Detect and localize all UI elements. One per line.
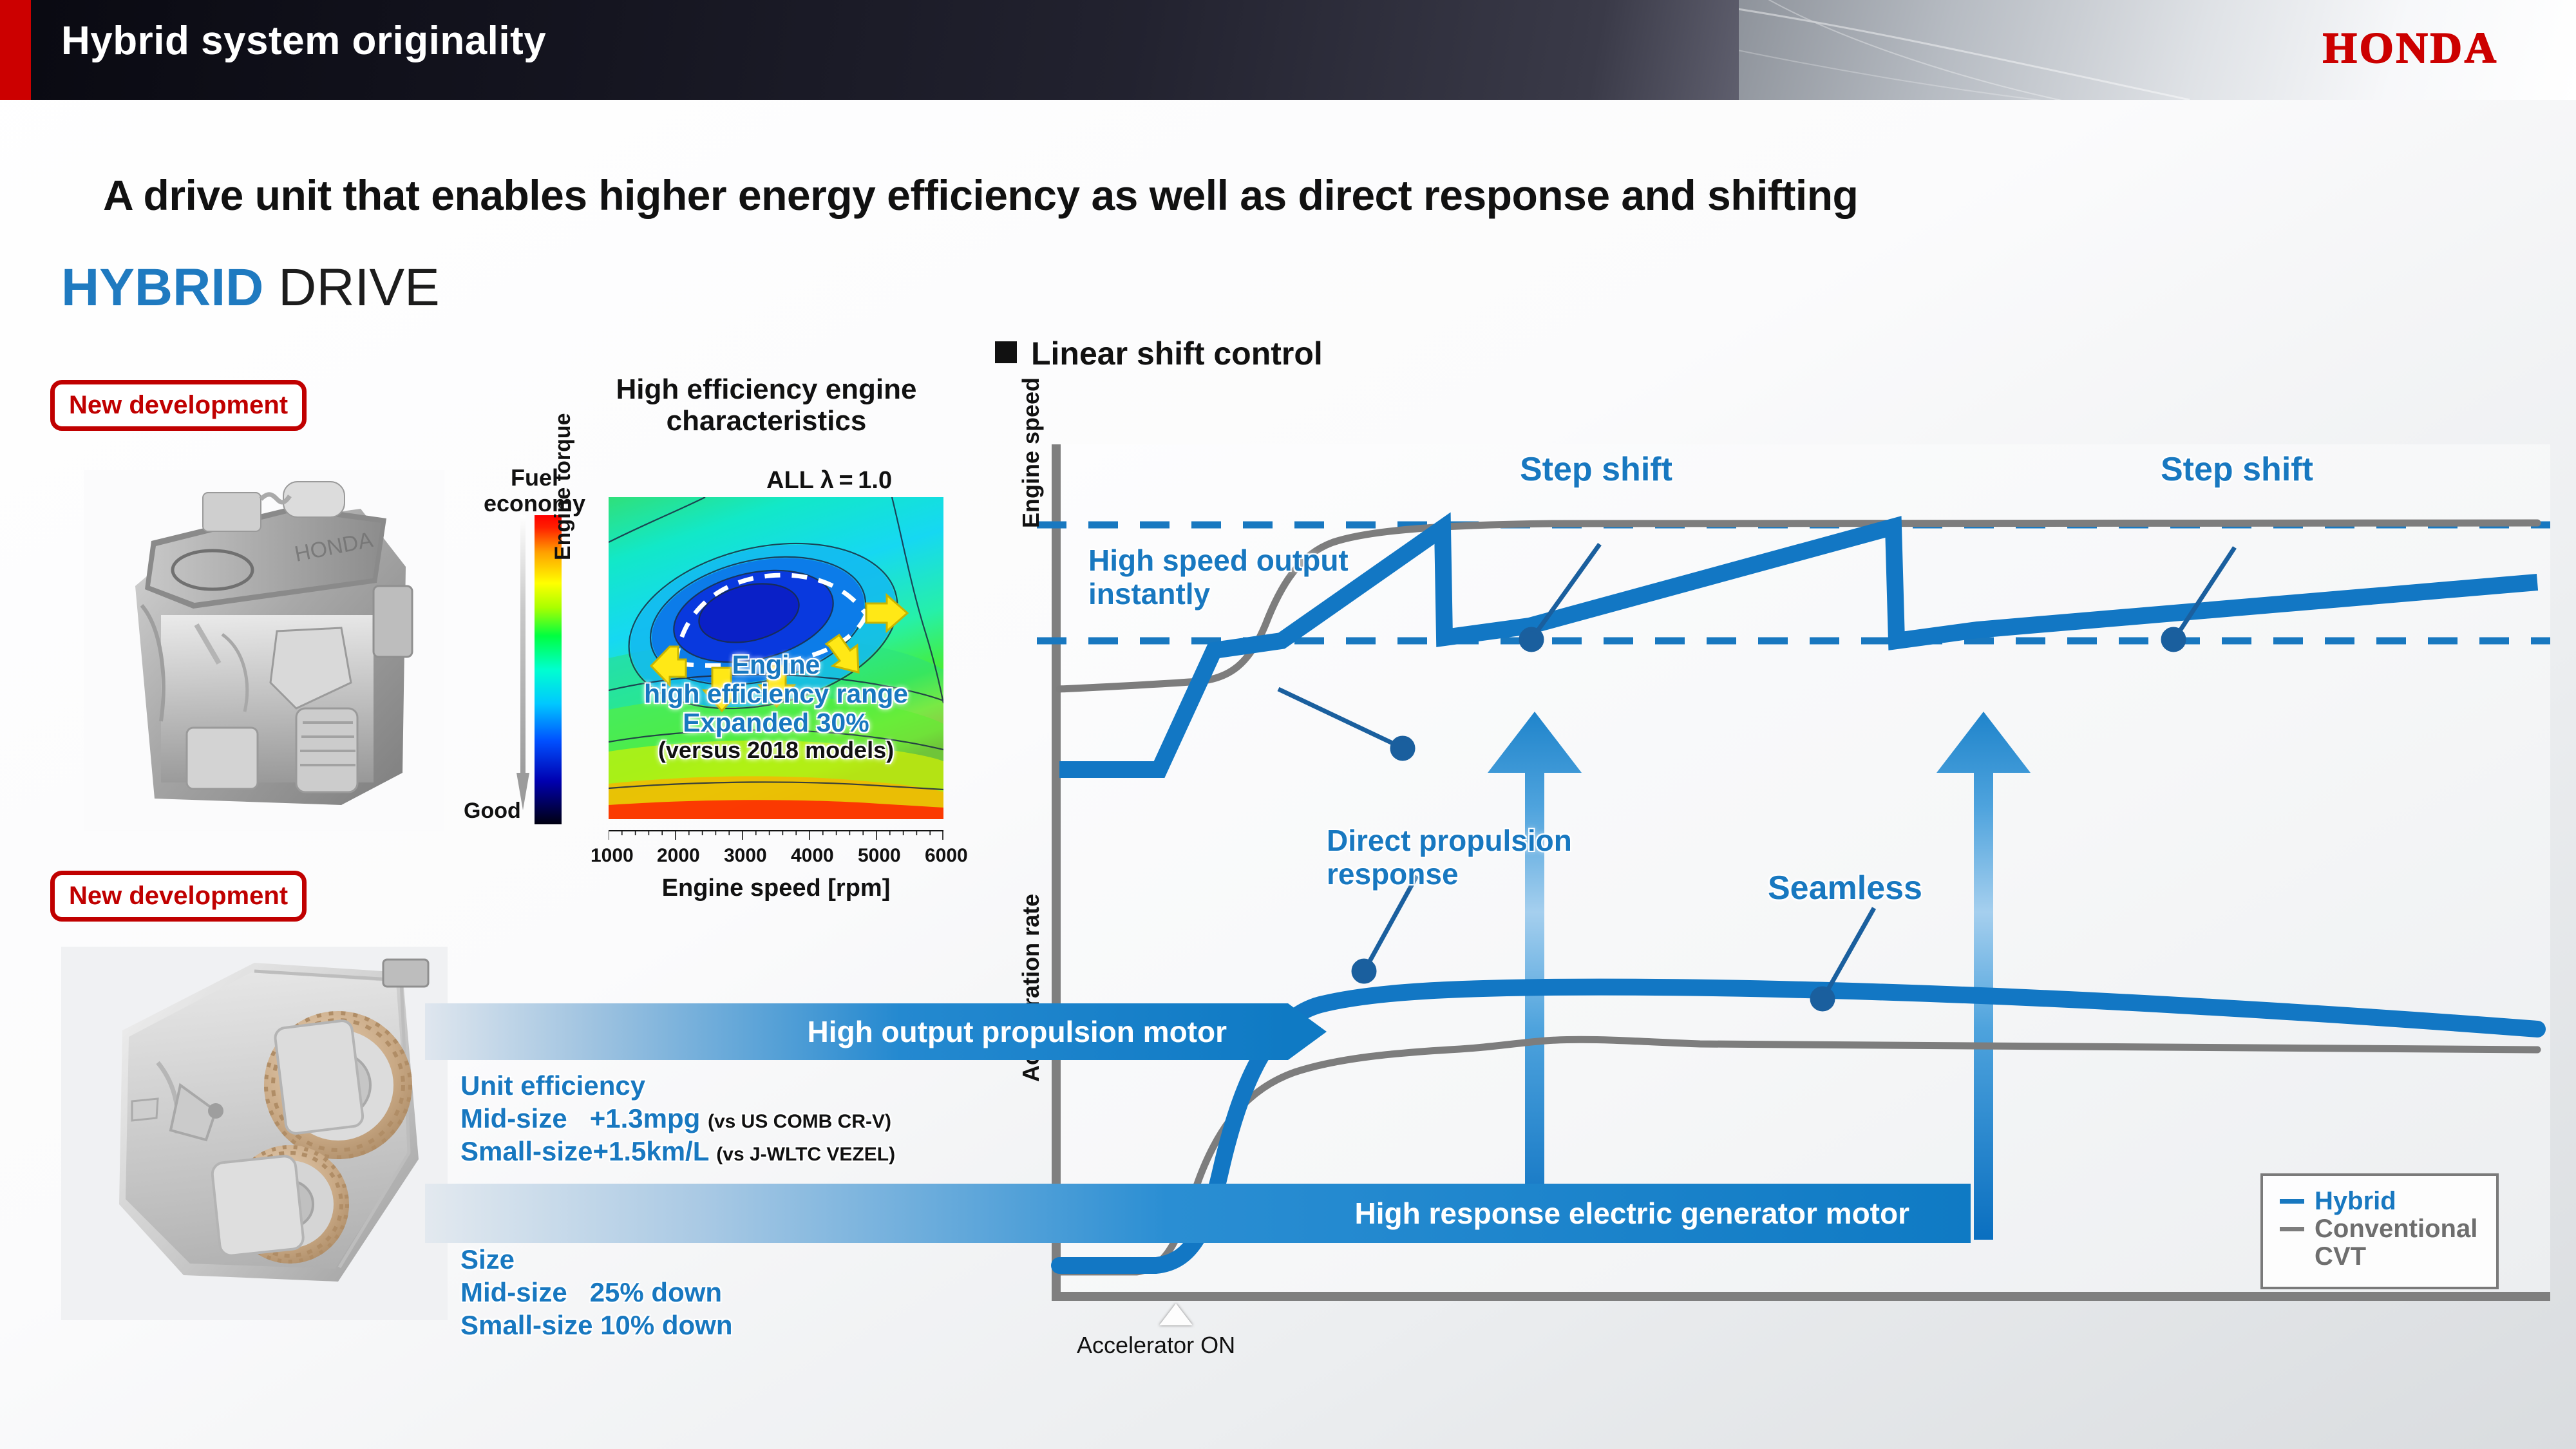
new-development-badge-transmission: New development bbox=[50, 871, 307, 922]
unit-efficiency-smallsize-label: Small-size bbox=[460, 1136, 592, 1166]
efficiency-map-title-line2: characteristics bbox=[554, 405, 979, 437]
rpm-axis-ticks bbox=[609, 829, 943, 844]
size-specs: Size Mid-size 25% down Small-size 10% do… bbox=[460, 1243, 732, 1342]
propulsion-motor-banner-arrow-icon bbox=[1288, 1003, 1327, 1060]
overlay-line-2: high efficiency range bbox=[609, 679, 943, 708]
generator-motor-banner-label: High response electric generator motor bbox=[1355, 1196, 1909, 1231]
size-midsize-value: 25% down bbox=[590, 1277, 722, 1307]
subheading-drive: DRIVE bbox=[263, 258, 439, 317]
fuel-economy-label-line1: Fuel bbox=[473, 465, 596, 491]
engine-speed-chart-axis-label: Engine speed bbox=[1018, 377, 1045, 528]
annotation-high-speed-output-line1: High speed output bbox=[1088, 544, 1349, 578]
size-title: Size bbox=[460, 1243, 732, 1276]
subheading-hybrid: HYBRID bbox=[61, 258, 263, 317]
overlay-line-3: Expanded 30% bbox=[609, 708, 943, 737]
legend-label-cvt-line1: Conventional bbox=[2315, 1215, 2477, 1243]
chart-legend: Hybrid Conventional CVT bbox=[2260, 1173, 2499, 1289]
annotation-high-speed-output-line2: instantly bbox=[1088, 578, 1349, 611]
linear-shift-control-heading: Linear shift control bbox=[995, 335, 1323, 372]
rpm-tick-6000: 6000 bbox=[925, 845, 968, 867]
transmission-photo bbox=[61, 947, 448, 1320]
unit-efficiency-title: Unit efficiency bbox=[460, 1069, 895, 1102]
rpm-tick-4000: 4000 bbox=[791, 845, 834, 867]
good-label: Good bbox=[464, 799, 521, 824]
size-smallsize-value: 10% down bbox=[600, 1310, 732, 1340]
fuel-economy-label: Fuel economy bbox=[473, 465, 596, 517]
size-smallsize-row: Small-size 10% down bbox=[460, 1309, 732, 1341]
engine-photo: HONDA bbox=[84, 470, 444, 831]
annotation-step-shift-2: Step shift bbox=[2161, 451, 2313, 488]
generator-motor-banner: High response electric generator motor bbox=[425, 1184, 1971, 1243]
efficiency-map-title-line1: High efficiency engine bbox=[554, 374, 979, 405]
unit-efficiency-smallsize-value: +1.5km/L bbox=[592, 1136, 708, 1166]
accelerator-on-label: Accelerator ON bbox=[1077, 1332, 1235, 1359]
legend-item-hybrid: Hybrid bbox=[2280, 1188, 2496, 1215]
efficiency-map-overlay-text: Engine high efficiency range Expanded 30… bbox=[609, 650, 943, 763]
unit-efficiency-smallsize-row: Small-size+1.5km/L (vs J-WLTC VEZEL) bbox=[460, 1135, 895, 1168]
slide-header: Hybrid system originality HONDA bbox=[0, 0, 2576, 100]
rpm-tick-5000: 5000 bbox=[858, 845, 901, 867]
overlay-line-4: (versus 2018 models) bbox=[609, 737, 943, 763]
annotation-direct-propulsion-response: Direct propulsion response bbox=[1327, 824, 1572, 891]
legend-item-conventional-cvt: Conventional CVT bbox=[2280, 1215, 2496, 1271]
rpm-tick-labels: 1000 2000 3000 4000 5000 6000 bbox=[576, 845, 976, 871]
header-red-accent bbox=[0, 0, 31, 100]
rpm-tick-3000: 3000 bbox=[724, 845, 767, 867]
annotation-step-shift-1: Step shift bbox=[1520, 451, 1672, 488]
annotation-seamless: Seamless bbox=[1768, 869, 1922, 907]
annotation-direct-propulsion-line1: Direct propulsion bbox=[1327, 824, 1572, 858]
size-midsize-label: Mid-size bbox=[460, 1277, 567, 1307]
propulsion-motor-banner-label: High output propulsion motor bbox=[807, 1014, 1227, 1049]
unit-efficiency-midsize-label: Mid-size bbox=[460, 1103, 567, 1133]
overlay-line-1: Engine bbox=[609, 650, 943, 679]
fuel-economy-gradient-arrow-icon bbox=[515, 515, 531, 811]
subheading: HYBRID DRIVE bbox=[61, 258, 440, 318]
rpm-tick-1000: 1000 bbox=[591, 845, 634, 867]
legend-label-conventional-cvt: Conventional CVT bbox=[2315, 1215, 2477, 1271]
legend-label-cvt-line2: CVT bbox=[2315, 1242, 2366, 1271]
engine-torque-axis-label: Engine torque bbox=[551, 413, 576, 560]
legend-dash-hybrid-icon bbox=[2280, 1199, 2304, 1204]
bullet-square-icon bbox=[995, 341, 1017, 363]
accelerator-on-marker-icon bbox=[1159, 1303, 1193, 1325]
size-smallsize-label: Small-size bbox=[460, 1310, 592, 1340]
efficiency-map-title: High efficiency engine characteristics bbox=[554, 374, 979, 437]
unit-efficiency-smallsize-note: (vs J-WLTC VEZEL) bbox=[716, 1144, 895, 1165]
new-development-badge-engine: New development bbox=[50, 380, 307, 431]
annotation-direct-propulsion-line2: response bbox=[1327, 858, 1572, 891]
unit-efficiency-midsize-note: (vs US COMB CR-V) bbox=[708, 1111, 891, 1132]
slide-canvas: Hybrid system originality HONDA A drive … bbox=[0, 0, 2576, 1449]
unit-efficiency-specs: Unit efficiency Mid-size +1.3mpg (vs US … bbox=[460, 1069, 895, 1168]
page-title: Hybrid system originality bbox=[61, 18, 546, 64]
propulsion-motor-banner: High output propulsion motor bbox=[425, 1003, 1288, 1060]
linear-shift-control-label: Linear shift control bbox=[1031, 336, 1323, 372]
headline-text: A drive unit that enables higher energy … bbox=[103, 171, 1858, 220]
rpm-tick-2000: 2000 bbox=[657, 845, 700, 867]
fuel-economy-colorbar bbox=[535, 515, 562, 824]
engine-speed-axis-label: Engine speed [rpm] bbox=[609, 875, 943, 902]
legend-label-hybrid: Hybrid bbox=[2315, 1188, 2396, 1215]
lambda-value-label: ALL λ = 1.0 bbox=[766, 467, 892, 495]
unit-efficiency-midsize-row: Mid-size +1.3mpg (vs US COMB CR-V) bbox=[460, 1102, 895, 1135]
fuel-economy-label-line2: economy bbox=[473, 491, 596, 516]
unit-efficiency-midsize-value: +1.3mpg bbox=[590, 1103, 701, 1133]
honda-logo: HONDA bbox=[2323, 23, 2499, 73]
legend-dash-cvt-icon bbox=[2280, 1227, 2304, 1231]
annotation-high-speed-output: High speed output instantly bbox=[1088, 544, 1349, 611]
size-midsize-row: Mid-size 25% down bbox=[460, 1276, 732, 1309]
